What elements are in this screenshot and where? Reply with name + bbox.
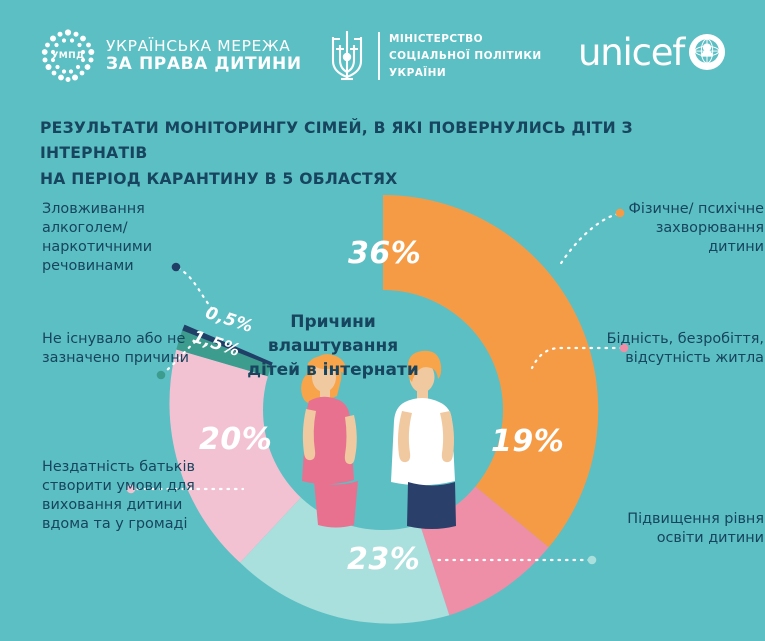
label-education: Підвищення рівня освіти дитини bbox=[578, 510, 764, 548]
unmpd-mark-text: УМПД bbox=[40, 28, 96, 84]
ministry-line3: УКРАЇНИ bbox=[389, 65, 542, 82]
logo-unmpd: УМПД УКРАЇНСЬКА МЕРЕЖА ЗА ПРАВА ДИТИНИ bbox=[40, 28, 302, 84]
label-health: Фізичне/ психічне захворювання дитини bbox=[596, 200, 764, 257]
ministry-divider bbox=[378, 32, 380, 80]
header: УМПД УКРАЇНСЬКА МЕРЕЖА ЗА ПРАВА ДИТИНИ bbox=[0, 0, 765, 100]
ministry-wordmark: МІНІСТЕРСТВО СОЦІАЛЬНОЇ ПОЛІТИКИ УКРАЇНИ bbox=[389, 31, 542, 82]
label-alcohol: Зловживання алкоголем/ наркотичними речо… bbox=[42, 200, 232, 277]
unmpd-emblem-icon: УМПД bbox=[40, 28, 96, 84]
unicef-wordmark: unicef bbox=[578, 34, 684, 71]
ministry-line1: МІНІСТЕРСТВО bbox=[389, 31, 542, 48]
percent-health: 36% bbox=[348, 236, 421, 271]
percent-parents: 20% bbox=[199, 422, 272, 457]
label-parents: Нездатність батьків створити умови для в… bbox=[42, 458, 232, 535]
percent-education: 23% bbox=[347, 542, 420, 577]
logo-unicef: unicef bbox=[578, 33, 726, 71]
label-poverty: Бідність, безробіття, відсутність житла bbox=[588, 330, 764, 368]
ministry-line2: СОЦІАЛЬНОЇ ПОЛІТИКИ bbox=[389, 48, 542, 65]
page-title: РЕЗУЛЬТАТИ МОНІТОРИНГУ СІМЕЙ, В ЯКІ ПОВЕ… bbox=[40, 116, 740, 192]
title-line-1: РЕЗУЛЬТАТИ МОНІТОРИНГУ СІМЕЙ, В ЯКІ ПОВЕ… bbox=[40, 116, 740, 167]
donut-hole bbox=[263, 290, 503, 530]
tryzub-icon bbox=[325, 27, 369, 85]
infographic-root: УМПД УКРАЇНСЬКА МЕРЕЖА ЗА ПРАВА ДИТИНИ bbox=[0, 0, 765, 641]
unmpd-wordmark: УКРАЇНСЬКА МЕРЕЖА ЗА ПРАВА ДИТИНИ bbox=[106, 38, 302, 74]
logo-ministry: МІНІСТЕРСТВО СОЦІАЛЬНОЇ ПОЛІТИКИ УКРАЇНИ bbox=[325, 27, 542, 85]
unmpd-line2: ЗА ПРАВА ДИТИНИ bbox=[106, 55, 302, 74]
label-no-reason: Не існувало або не зазначено причини bbox=[42, 330, 217, 368]
unicef-emblem-icon bbox=[688, 33, 726, 71]
percent-poverty: 19% bbox=[491, 424, 564, 459]
unmpd-line1: УКРАЇНСЬКА МЕРЕЖА bbox=[106, 38, 302, 55]
